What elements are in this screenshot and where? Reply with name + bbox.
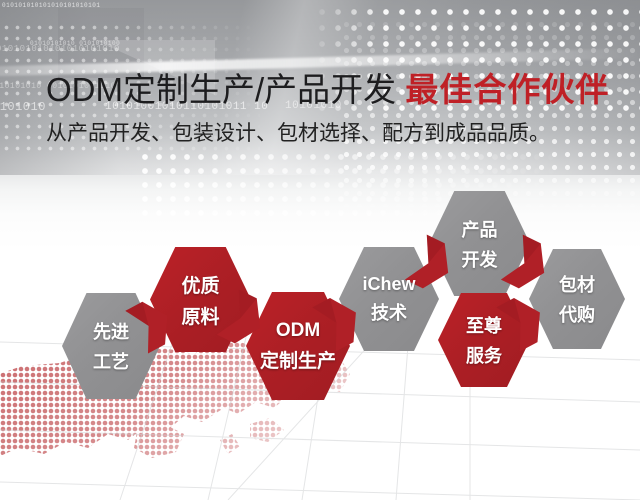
flow-step-label-line1: 优质 [181, 271, 219, 298]
flow-step-label-line1: ODM [276, 320, 320, 342]
banner-image: 010101010101010101010101 01010101010 010… [0, 0, 640, 500]
flow-step-label-line2: 技术 [371, 299, 407, 325]
flow-step-label-line2: 原料 [181, 302, 219, 329]
flow-step-label-line1: 先进 [93, 318, 129, 344]
flow-step-label-line1: 至尊 [466, 312, 502, 338]
flow-step-label-line2: 工艺 [93, 348, 129, 374]
process-flow-diagram: 先进工艺优质原料ODM定制生产iChew技术产品开发至尊服务包材代购 [0, 0, 640, 500]
flow-step-label-line1: iChew [362, 274, 415, 295]
flow-step-label-line1: 产品 [462, 216, 498, 242]
flow-step-label-line2: 服务 [466, 342, 502, 368]
flow-step-label-line2: 定制生产 [260, 346, 336, 373]
flow-step-label-line2: 代购 [559, 301, 595, 327]
flow-step-label-line1: 包材 [559, 271, 595, 297]
flow-step-label-line2: 开发 [462, 246, 498, 272]
